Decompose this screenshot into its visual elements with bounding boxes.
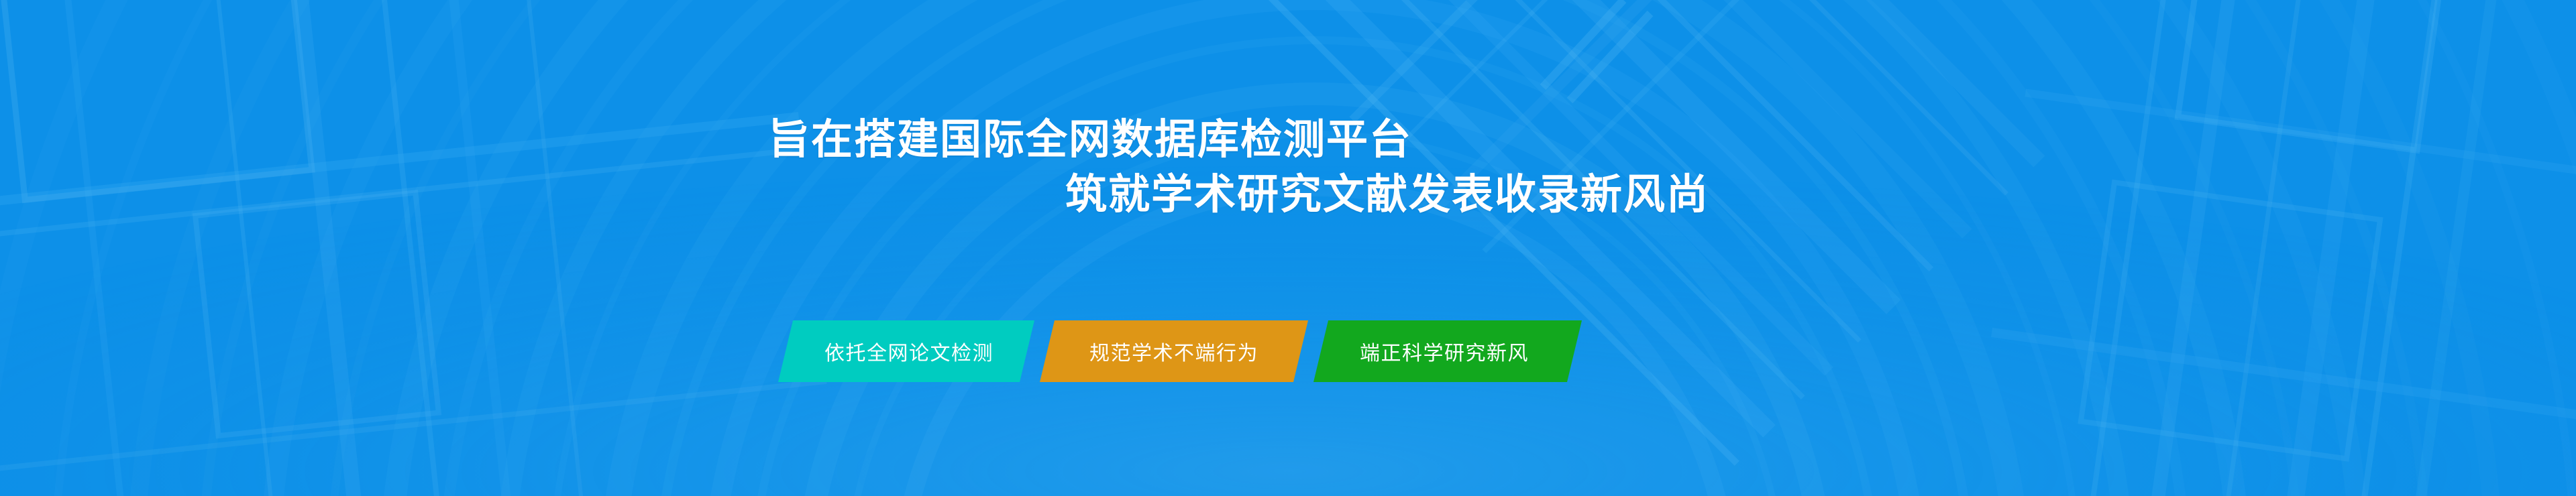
- headline-line-1: 旨在搭建国际全网数据库检测平台: [768, 119, 2576, 161]
- feature-tag-academic-misconduct[interactable]: 规范学术不端行为: [1040, 320, 1308, 382]
- background-arcs: [0, 0, 2576, 496]
- background-diagonal-lines: [0, 0, 2576, 496]
- feature-tag-bar: 依托全网论文检测 规范学术不端行为 端正科学研究新风: [778, 320, 1582, 382]
- feature-tag-research-ethos[interactable]: 端正科学研究新风: [1313, 320, 1582, 382]
- feature-tag-label: 规范学术不端行为: [1089, 336, 1258, 366]
- background-grid-left: [0, 0, 2576, 496]
- feature-tag-label: 依托全网论文检测: [824, 336, 994, 366]
- promo-banner: 旨在搭建国际全网数据库检测平台 筑就学术研究文献发表收录新风尚 依托全网论文检测…: [0, 0, 2576, 496]
- headline-line-2: 筑就学术研究文献发表收录新风尚: [1065, 174, 2576, 216]
- background-grid-right: [0, 0, 2576, 496]
- background-light-wash: [0, 0, 2576, 496]
- headline-block: 旨在搭建国际全网数据库检测平台 筑就学术研究文献发表收录新风尚: [0, 119, 2576, 216]
- feature-tag-paper-detection[interactable]: 依托全网论文检测: [778, 320, 1034, 382]
- feature-tag-label: 端正科学研究新风: [1360, 336, 1529, 366]
